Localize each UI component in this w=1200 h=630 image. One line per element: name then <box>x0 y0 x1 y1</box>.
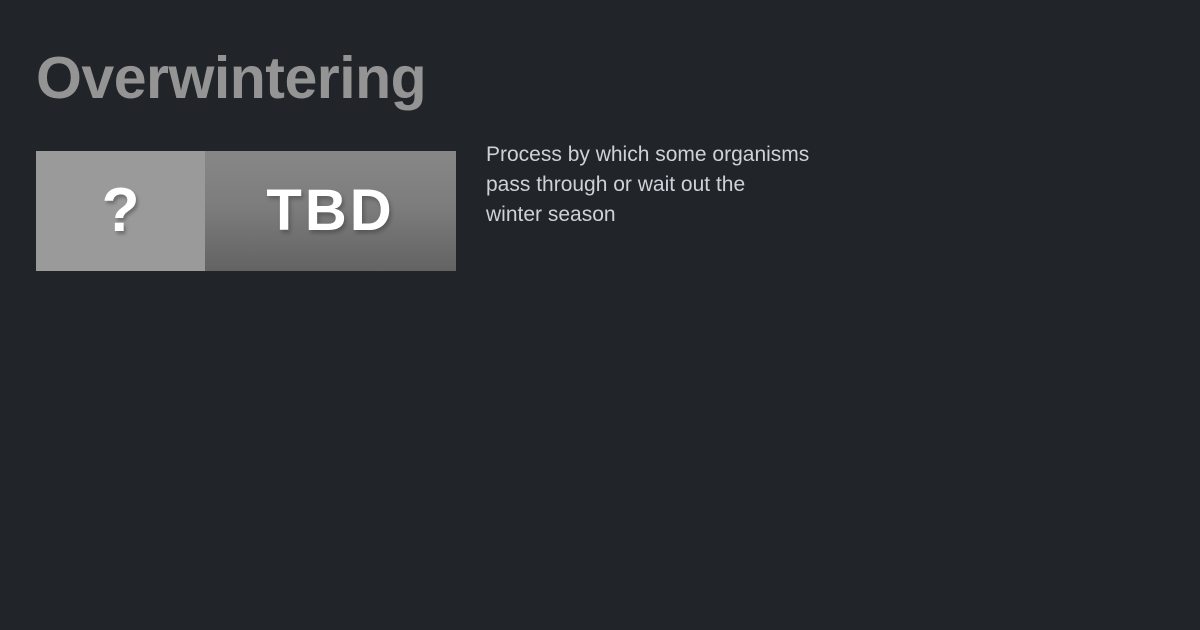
question-mark-icon: ? <box>102 180 140 242</box>
description-line-3: winter season <box>486 200 886 230</box>
slide-canvas: Overwintering ? TBD Process by which som… <box>0 0 1200 630</box>
description-line-2: pass through or wait out the <box>486 170 886 200</box>
media-thumbnail-panel: ? <box>36 151 205 271</box>
page-title: Overwintering <box>36 42 426 114</box>
media-placeholder-card[interactable]: ? TBD <box>36 151 456 271</box>
description-line-1: Process by which some organisms <box>486 140 886 170</box>
status-badge: TBD <box>266 182 394 240</box>
description-text: Process by which some organisms pass thr… <box>486 140 886 230</box>
media-status-panel: TBD <box>205 151 456 271</box>
